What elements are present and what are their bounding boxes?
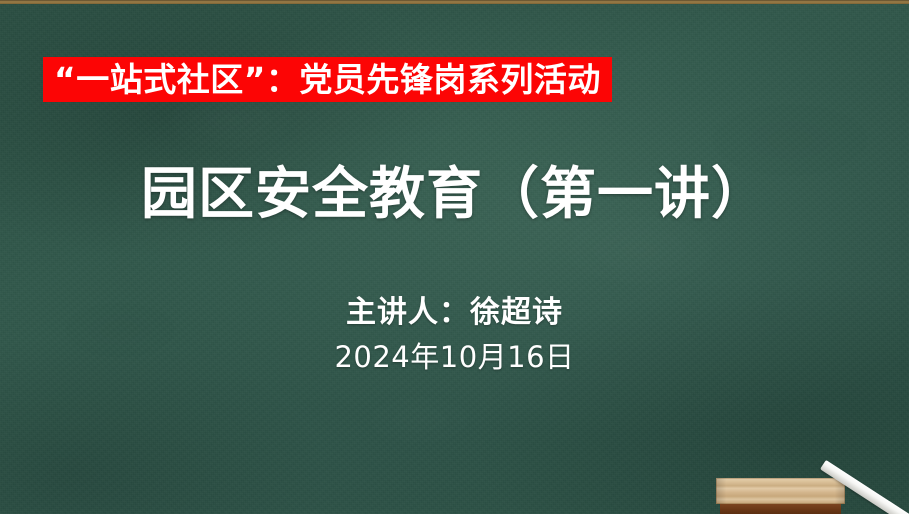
activity-banner-text: “一站式社区”：党员先锋岗系列活动 bbox=[54, 63, 601, 96]
presenter-name: 主讲人：徐超诗 bbox=[0, 294, 909, 332]
board-top-frame bbox=[0, 0, 909, 4]
chalkboard-eraser-icon bbox=[716, 478, 845, 514]
activity-banner: “一站式社区”：党员先锋岗系列活动 bbox=[43, 57, 612, 102]
presenter-block: 主讲人：徐超诗 2024年10月16日 bbox=[0, 294, 909, 374]
eraser-body bbox=[716, 478, 845, 504]
presentation-date: 2024年10月16日 bbox=[0, 340, 909, 375]
chalkboard-slide: “一站式社区”：党员先锋岗系列活动 园区安全教育（第一讲） 主讲人：徐超诗 20… bbox=[0, 0, 909, 514]
page-title: 园区安全教育（第一讲） bbox=[0, 163, 909, 227]
eraser-base bbox=[720, 504, 841, 514]
